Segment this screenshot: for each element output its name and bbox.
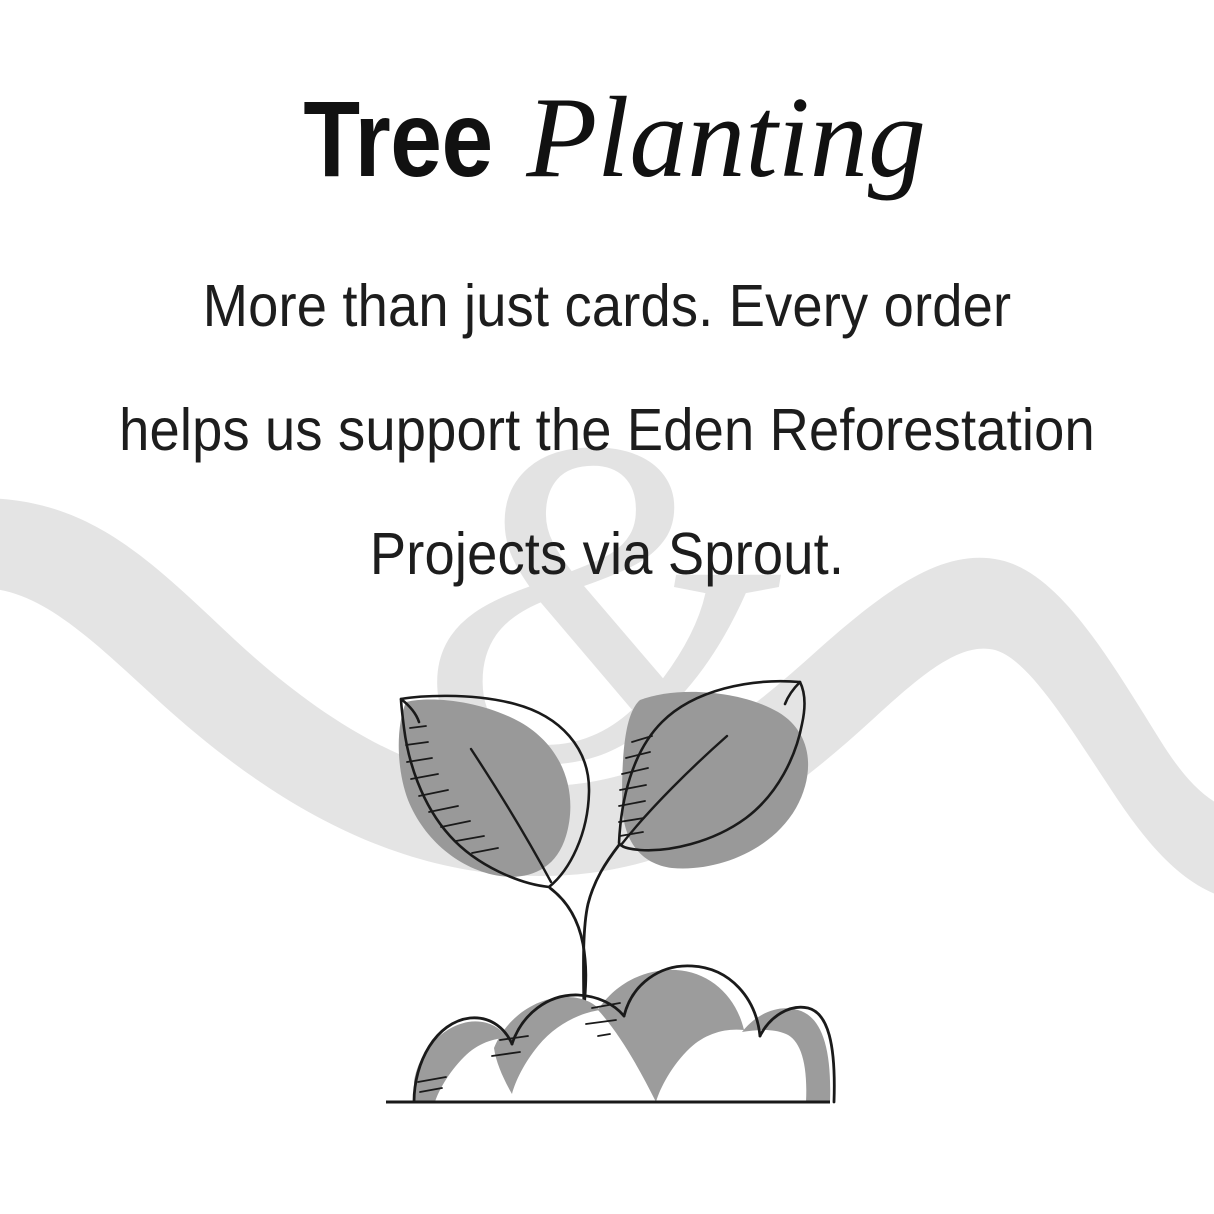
text-layer: TreePlanting More than just cards. Every… bbox=[0, 0, 1214, 1214]
tree-planting-graphic: & bbox=[0, 0, 1214, 1214]
title-word-bold: Tree bbox=[304, 85, 493, 193]
subcopy-line-1: More than just cards. Every order bbox=[49, 244, 1166, 368]
subcopy-block: More than just cards. Every order helps … bbox=[0, 244, 1214, 616]
subcopy-line-2: helps us support the Eden Reforestation bbox=[49, 368, 1166, 492]
subcopy-line-3: Projects via Sprout. bbox=[49, 492, 1166, 616]
title-word-italic: Planting bbox=[526, 80, 926, 196]
page-title: TreePlanting bbox=[0, 80, 1214, 196]
